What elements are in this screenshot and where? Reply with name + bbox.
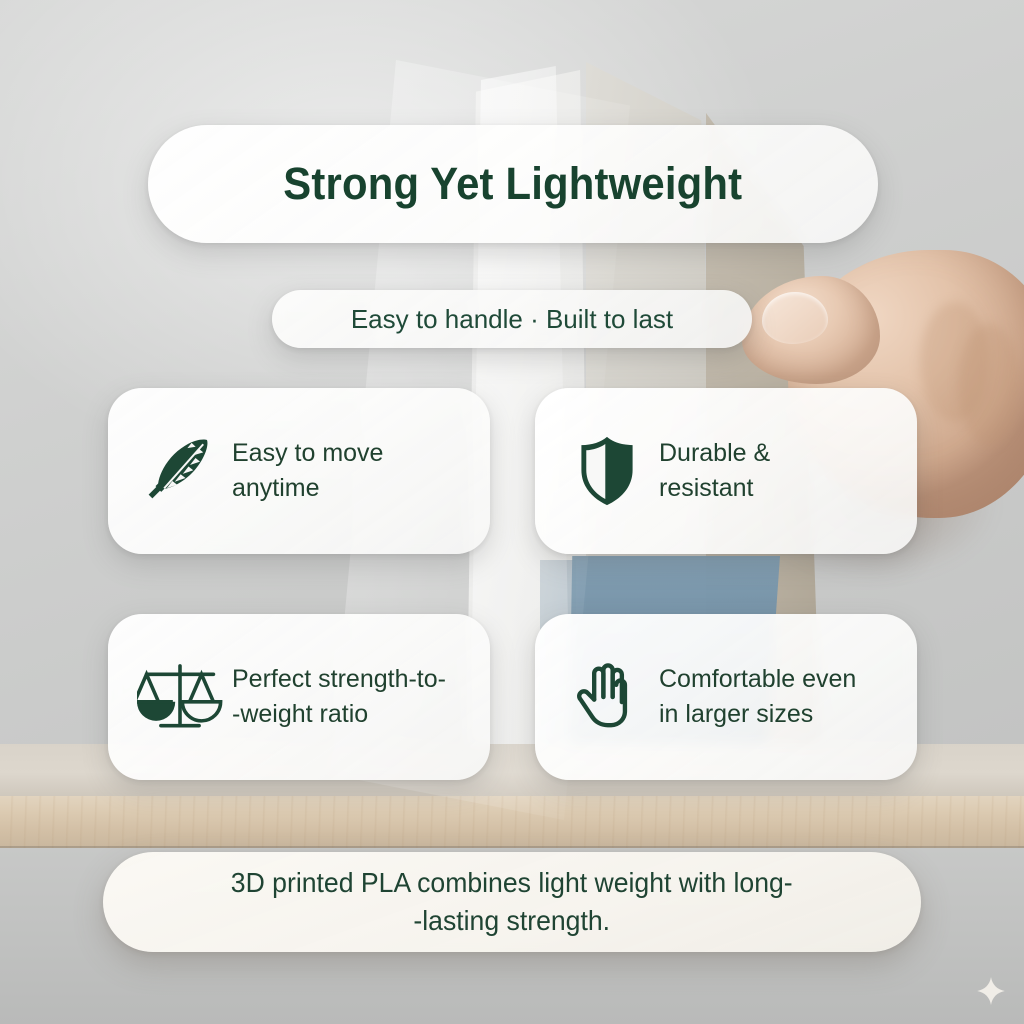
shield-icon — [561, 425, 653, 517]
page-title: Strong Yet Lightweight — [283, 158, 742, 210]
subtitle-card: Easy to handle · Built to last — [272, 290, 752, 348]
knuckle-2 — [958, 324, 1020, 446]
feature-label-line1: Easy to move — [232, 439, 383, 467]
balance-scale-icon — [134, 651, 226, 743]
feature-label-line1: Durable & — [659, 439, 770, 467]
promo-graphic: Strong Yet Lightweight Easy to handle · … — [0, 0, 1024, 1024]
feature-label: Durable & resistant — [659, 436, 770, 507]
feature-card-easy-to-move[interactable]: Easy to move anytime — [108, 388, 490, 554]
feature-label-line2: anytime — [232, 471, 383, 507]
wood-grain — [0, 796, 1024, 848]
feather-icon — [134, 425, 226, 517]
feature-label-line1: Comfortable even — [659, 665, 856, 693]
feature-label-line2: in larger sizes — [659, 697, 856, 733]
page-subtitle: Easy to handle · Built to last — [351, 304, 673, 335]
feature-label-line1: Perfect strength-to- — [232, 665, 446, 693]
footer-text-line1: 3D printed PLA combines light weight wit… — [231, 867, 793, 898]
footer-card: 3D printed PLA combines light weight wit… — [103, 852, 921, 952]
sparkle-icon — [975, 975, 1007, 1007]
footer-text: 3D printed PLA combines light weight wit… — [231, 864, 793, 939]
title-card: Strong Yet Lightweight — [148, 125, 878, 243]
footer-text-line2: -lasting strength. — [231, 902, 793, 940]
thumbnail — [762, 292, 828, 344]
feature-label: Easy to move anytime — [232, 436, 383, 507]
feature-label-line2: -weight ratio — [232, 697, 446, 733]
feature-card-durable[interactable]: Durable & resistant — [535, 388, 917, 554]
feature-card-strength-to-weight[interactable]: Perfect strength-to- -weight ratio — [108, 614, 490, 780]
feature-label: Comfortable even in larger sizes — [659, 662, 856, 733]
feature-label-line2: resistant — [659, 471, 770, 507]
feature-label: Perfect strength-to- -weight ratio — [232, 662, 446, 733]
open-hand-icon — [561, 651, 653, 743]
feature-card-comfortable[interactable]: Comfortable even in larger sizes — [535, 614, 917, 780]
